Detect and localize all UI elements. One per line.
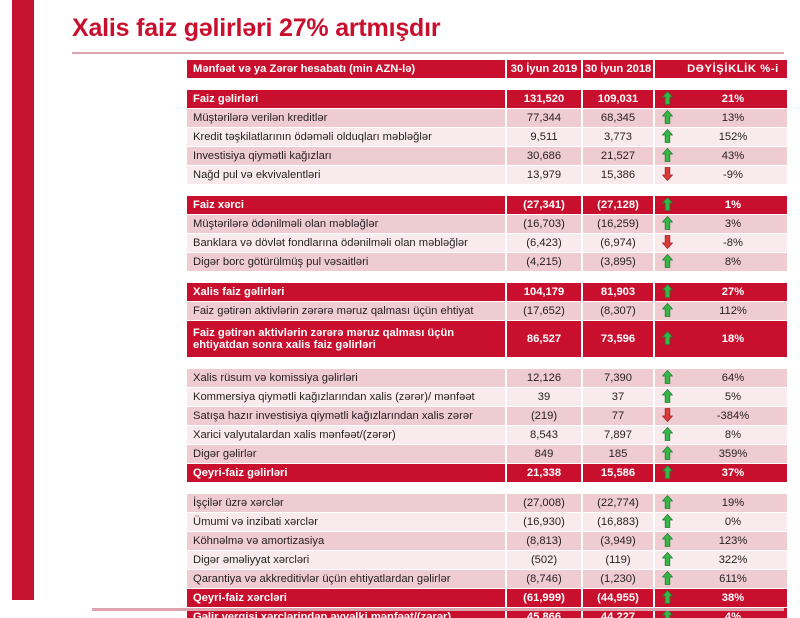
arrow-down-icon	[662, 167, 673, 181]
table-row: İşçilər üzrə xərclər(27,008)(22,774)19%	[187, 494, 787, 513]
row-label: Qeyri-faiz xərcləri	[187, 589, 505, 608]
row-label: Nağd pul və ekvivalentləri	[187, 166, 505, 185]
row-change-percent: -384%	[679, 407, 787, 426]
row-change-percent: 611%	[679, 570, 787, 589]
row-value-year1: (8,746)	[505, 570, 581, 589]
row-trend-arrow	[653, 513, 679, 532]
row-value-year1: 86,527	[505, 321, 581, 358]
row-change-percent: 112%	[679, 302, 787, 321]
row-trend-arrow	[653, 445, 679, 464]
row-label: Faiz gətirən aktivlərin zərərə məruz qal…	[187, 302, 505, 321]
table-row: Qeyri-faiz xərcləri(61,999)(44,955)38%	[187, 589, 787, 608]
arrow-up-icon	[662, 254, 673, 268]
row-value-year1: 9,511	[505, 128, 581, 147]
table-row: Xalis rüsum və komissiya gəlirləri12,126…	[187, 369, 787, 388]
arrow-up-icon	[662, 91, 673, 105]
arrow-up-icon	[662, 216, 673, 230]
row-change-percent: 64%	[679, 369, 787, 388]
column-header-year2: 30 İyun 2018	[581, 60, 653, 79]
table-row: Nağd pul və ekvivalentləri13,97915,386-9…	[187, 166, 787, 185]
row-value-year1: 849	[505, 445, 581, 464]
row-trend-arrow	[653, 215, 679, 234]
arrow-up-icon	[662, 495, 673, 509]
row-label: Digər gəlirlər	[187, 445, 505, 464]
row-label: Ümumi və inzibati xərclər	[187, 513, 505, 532]
row-label: Müştərilərə ödənilməli olan məbləğlər	[187, 215, 505, 234]
row-value-year2: (16,259)	[581, 215, 653, 234]
row-trend-arrow	[653, 147, 679, 166]
table-row: Faiz gətirən aktivlərin zərərə məruz qal…	[187, 302, 787, 321]
arrow-up-icon	[662, 284, 673, 298]
row-value-year2: (119)	[581, 551, 653, 570]
table-header-block: Mənfəət və ya Zərər hesabatı (min AZN-lə…	[187, 60, 787, 79]
table-row: Faiz gətirən aktivlərin zərərə məruz qal…	[187, 321, 787, 358]
row-value-year2: (3,895)	[581, 253, 653, 272]
row-label: Investisiya qiymətli kağızları	[187, 147, 505, 166]
left-accent-bar	[12, 0, 34, 600]
table-row: Kredit təşkilatlarının ödəməli olduqları…	[187, 128, 787, 147]
row-value-year2: 21,527	[581, 147, 653, 166]
table-row: Faiz xərci(27,341)(27,128)1%	[187, 196, 787, 215]
row-value-year1: 39	[505, 388, 581, 407]
row-change-percent: 37%	[679, 464, 787, 483]
row-label: Müştərilərə verilən kreditlər	[187, 109, 505, 128]
row-trend-arrow	[653, 589, 679, 608]
row-trend-arrow	[653, 128, 679, 147]
arrow-up-icon	[662, 129, 673, 143]
table-row: Müştərilərə verilən kreditlər77,34468,34…	[187, 109, 787, 128]
row-value-year2: (16,883)	[581, 513, 653, 532]
row-value-year1: 13,979	[505, 166, 581, 185]
row-trend-arrow	[653, 321, 679, 358]
row-value-year2: (3,949)	[581, 532, 653, 551]
arrow-up-icon	[662, 110, 673, 124]
row-value-year2: 15,586	[581, 464, 653, 483]
row-value-year1: (17,652)	[505, 302, 581, 321]
row-trend-arrow	[653, 407, 679, 426]
row-value-year1: (61,999)	[505, 589, 581, 608]
row-trend-arrow	[653, 109, 679, 128]
row-value-year1: (27,008)	[505, 494, 581, 513]
row-change-percent: 123%	[679, 532, 787, 551]
row-change-percent: 13%	[679, 109, 787, 128]
row-change-percent: 359%	[679, 445, 787, 464]
row-value-year1: 8,543	[505, 426, 581, 445]
row-value-year2: (44,955)	[581, 589, 653, 608]
row-label: Kommersiya qiymətli kağızlarından xalis …	[187, 388, 505, 407]
table-row: Digər əməliyyat xərcləri(502)(119)322%	[187, 551, 787, 570]
table-row: Banklara və dövlət fondlarına ödənilməli…	[187, 234, 787, 253]
arrow-down-icon	[662, 235, 673, 249]
row-label: Satışa hazır investisiya qiymətli kağızl…	[187, 407, 505, 426]
row-label: Köhnəlmə və amortizasiya	[187, 532, 505, 551]
row-value-year1: (16,930)	[505, 513, 581, 532]
row-trend-arrow	[653, 570, 679, 589]
table-row: Müştərilərə ödənilməli olan məbləğlər(16…	[187, 215, 787, 234]
row-label: Qeyri-faiz gəlirləri	[187, 464, 505, 483]
arrow-up-icon	[662, 331, 673, 345]
table-section-3: Xalis rüsum və komissiya gəlirləri12,126…	[187, 369, 787, 483]
row-value-year1: (27,341)	[505, 196, 581, 215]
row-change-percent: 19%	[679, 494, 787, 513]
row-label: Xarici valyutalardan xalis mənfəət/(zərə…	[187, 426, 505, 445]
arrow-up-icon	[662, 370, 673, 384]
row-trend-arrow	[653, 494, 679, 513]
arrow-up-icon	[662, 552, 673, 566]
row-value-year1: 21,338	[505, 464, 581, 483]
table-row: Qeyri-faiz gəlirləri21,33815,58637%	[187, 464, 787, 483]
arrow-up-icon	[662, 571, 673, 585]
row-label: Digər əməliyyat xərcləri	[187, 551, 505, 570]
page-title: Xalis faiz gəlirləri 27% artmışdır	[72, 14, 440, 43]
row-change-percent: 27%	[679, 283, 787, 302]
row-value-year1: 104,179	[505, 283, 581, 302]
row-value-year1: (8,813)	[505, 532, 581, 551]
table-row: Satışa hazır investisiya qiymətli kağızl…	[187, 407, 787, 426]
table-row: Qarantiya və akkreditivlər üçün ehtiyatl…	[187, 570, 787, 589]
row-change-percent: 18%	[679, 321, 787, 358]
row-change-percent: -9%	[679, 166, 787, 185]
row-value-year2: (1,230)	[581, 570, 653, 589]
section-gap	[187, 358, 787, 369]
row-trend-arrow	[653, 196, 679, 215]
row-value-year1: 131,520	[505, 90, 581, 109]
row-trend-arrow	[653, 166, 679, 185]
column-header-label: Mənfəət və ya Zərər hesabatı (min AZN-lə…	[187, 60, 505, 79]
row-label: Banklara və dövlət fondlarına ödənilməli…	[187, 234, 505, 253]
row-change-percent: 21%	[679, 90, 787, 109]
row-label: Faiz xərci	[187, 196, 505, 215]
income-statement-table: Mənfəət və ya Zərər hesabatı (min AZN-lə…	[187, 60, 787, 618]
row-change-percent: 1%	[679, 196, 787, 215]
row-label: Xalis faiz gəlirləri	[187, 283, 505, 302]
row-value-year2: 68,345	[581, 109, 653, 128]
column-header-change: DƏYİŞİKLİK %-i	[679, 60, 787, 79]
table-row: Digər gəlirlər849185359%	[187, 445, 787, 464]
row-change-percent: 152%	[679, 128, 787, 147]
row-value-year1: 30,686	[505, 147, 581, 166]
row-value-year2: (6,974)	[581, 234, 653, 253]
row-value-year1: (16,703)	[505, 215, 581, 234]
arrow-up-icon	[662, 533, 673, 547]
row-value-year2: (27,128)	[581, 196, 653, 215]
row-change-percent: 38%	[679, 589, 787, 608]
arrow-up-icon	[662, 303, 673, 317]
table-row: Köhnəlmə və amortizasiya(8,813)(3,949)12…	[187, 532, 787, 551]
row-trend-arrow	[653, 464, 679, 483]
row-trend-arrow	[653, 532, 679, 551]
column-header-year1: 30 İyun 2019	[505, 60, 581, 79]
slide-page: Xalis faiz gəlirləri 27% artmışdır Mənfə…	[0, 0, 800, 618]
row-value-year2: 109,031	[581, 90, 653, 109]
row-label: İşçilər üzrə xərclər	[187, 494, 505, 513]
row-label: Xalis rüsum və komissiya gəlirləri	[187, 369, 505, 388]
table-section-1: Faiz xərci(27,341)(27,128)1%Müştərilərə …	[187, 196, 787, 272]
row-value-year2: (8,307)	[581, 302, 653, 321]
table-row: Xalis faiz gəlirləri104,17981,90327%	[187, 283, 787, 302]
arrow-up-icon	[662, 514, 673, 528]
section-gap	[187, 272, 787, 283]
row-value-year2: (22,774)	[581, 494, 653, 513]
table-row: Kommersiya qiymətli kağızlarından xalis …	[187, 388, 787, 407]
row-value-year2: 15,386	[581, 166, 653, 185]
row-value-year2: 7,390	[581, 369, 653, 388]
arrow-up-icon	[662, 197, 673, 211]
table-row: Ümumi və inzibati xərclər(16,930)(16,883…	[187, 513, 787, 532]
row-label: Faiz gətirən aktivlərin zərərə məruz qal…	[187, 321, 505, 358]
arrow-up-icon	[662, 446, 673, 460]
row-trend-arrow	[653, 234, 679, 253]
row-value-year2: 81,903	[581, 283, 653, 302]
row-change-percent: 3%	[679, 215, 787, 234]
table-row: Faiz gəlirləri131,520109,03121%	[187, 90, 787, 109]
arrow-down-icon	[662, 408, 673, 422]
row-label: Qarantiya və akkreditivlər üçün ehtiyatl…	[187, 570, 505, 589]
row-value-year1: (4,215)	[505, 253, 581, 272]
table-row: Digər borc götürülmüş pul vəsaitləri(4,2…	[187, 253, 787, 272]
row-value-year2: 77	[581, 407, 653, 426]
row-value-year1: (6,423)	[505, 234, 581, 253]
row-change-percent: 322%	[679, 551, 787, 570]
row-trend-arrow	[653, 369, 679, 388]
row-label: Faiz gəlirləri	[187, 90, 505, 109]
table-row: Xarici valyutalardan xalis mənfəət/(zərə…	[187, 426, 787, 445]
row-change-percent: 0%	[679, 513, 787, 532]
section-gap	[187, 79, 787, 90]
row-value-year2: 7,897	[581, 426, 653, 445]
row-label: Digər borc götürülmüş pul vəsaitləri	[187, 253, 505, 272]
arrow-up-icon	[662, 148, 673, 162]
title-divider	[72, 52, 784, 54]
row-change-percent: 5%	[679, 388, 787, 407]
table-section-2: Xalis faiz gəlirləri104,17981,90327%Faiz…	[187, 283, 787, 358]
arrow-up-icon	[662, 389, 673, 403]
row-trend-arrow	[653, 388, 679, 407]
arrow-up-icon	[662, 465, 673, 479]
bottom-divider	[92, 608, 784, 611]
row-value-year1: (219)	[505, 407, 581, 426]
row-value-year1: (502)	[505, 551, 581, 570]
row-change-percent: 43%	[679, 147, 787, 166]
row-change-percent: 8%	[679, 253, 787, 272]
table-header-row: Mənfəət və ya Zərər hesabatı (min AZN-lə…	[187, 60, 787, 79]
row-value-year2: 185	[581, 445, 653, 464]
row-trend-arrow	[653, 302, 679, 321]
table-section-4: İşçilər üzrə xərclər(27,008)(22,774)19%Ü…	[187, 494, 787, 618]
row-change-percent: -8%	[679, 234, 787, 253]
row-trend-arrow	[653, 253, 679, 272]
row-value-year2: 3,773	[581, 128, 653, 147]
row-value-year1: 77,344	[505, 109, 581, 128]
column-header-arrow-spacer	[653, 60, 679, 79]
arrow-up-icon	[662, 590, 673, 604]
section-gap	[187, 185, 787, 196]
row-change-percent: 8%	[679, 426, 787, 445]
section-gap	[187, 483, 787, 494]
row-value-year2: 37	[581, 388, 653, 407]
row-trend-arrow	[653, 551, 679, 570]
table-row: Investisiya qiymətli kağızları30,68621,5…	[187, 147, 787, 166]
table-section-0: Faiz gəlirləri131,520109,03121%Müştərilə…	[187, 90, 787, 185]
row-value-year2: 73,596	[581, 321, 653, 358]
row-trend-arrow	[653, 426, 679, 445]
row-trend-arrow	[653, 90, 679, 109]
row-trend-arrow	[653, 283, 679, 302]
row-value-year1: 12,126	[505, 369, 581, 388]
table-sections: Faiz gəlirləri131,520109,03121%Müştərilə…	[187, 79, 787, 618]
arrow-up-icon	[662, 427, 673, 441]
row-label: Kredit təşkilatlarının ödəməli olduqları…	[187, 128, 505, 147]
